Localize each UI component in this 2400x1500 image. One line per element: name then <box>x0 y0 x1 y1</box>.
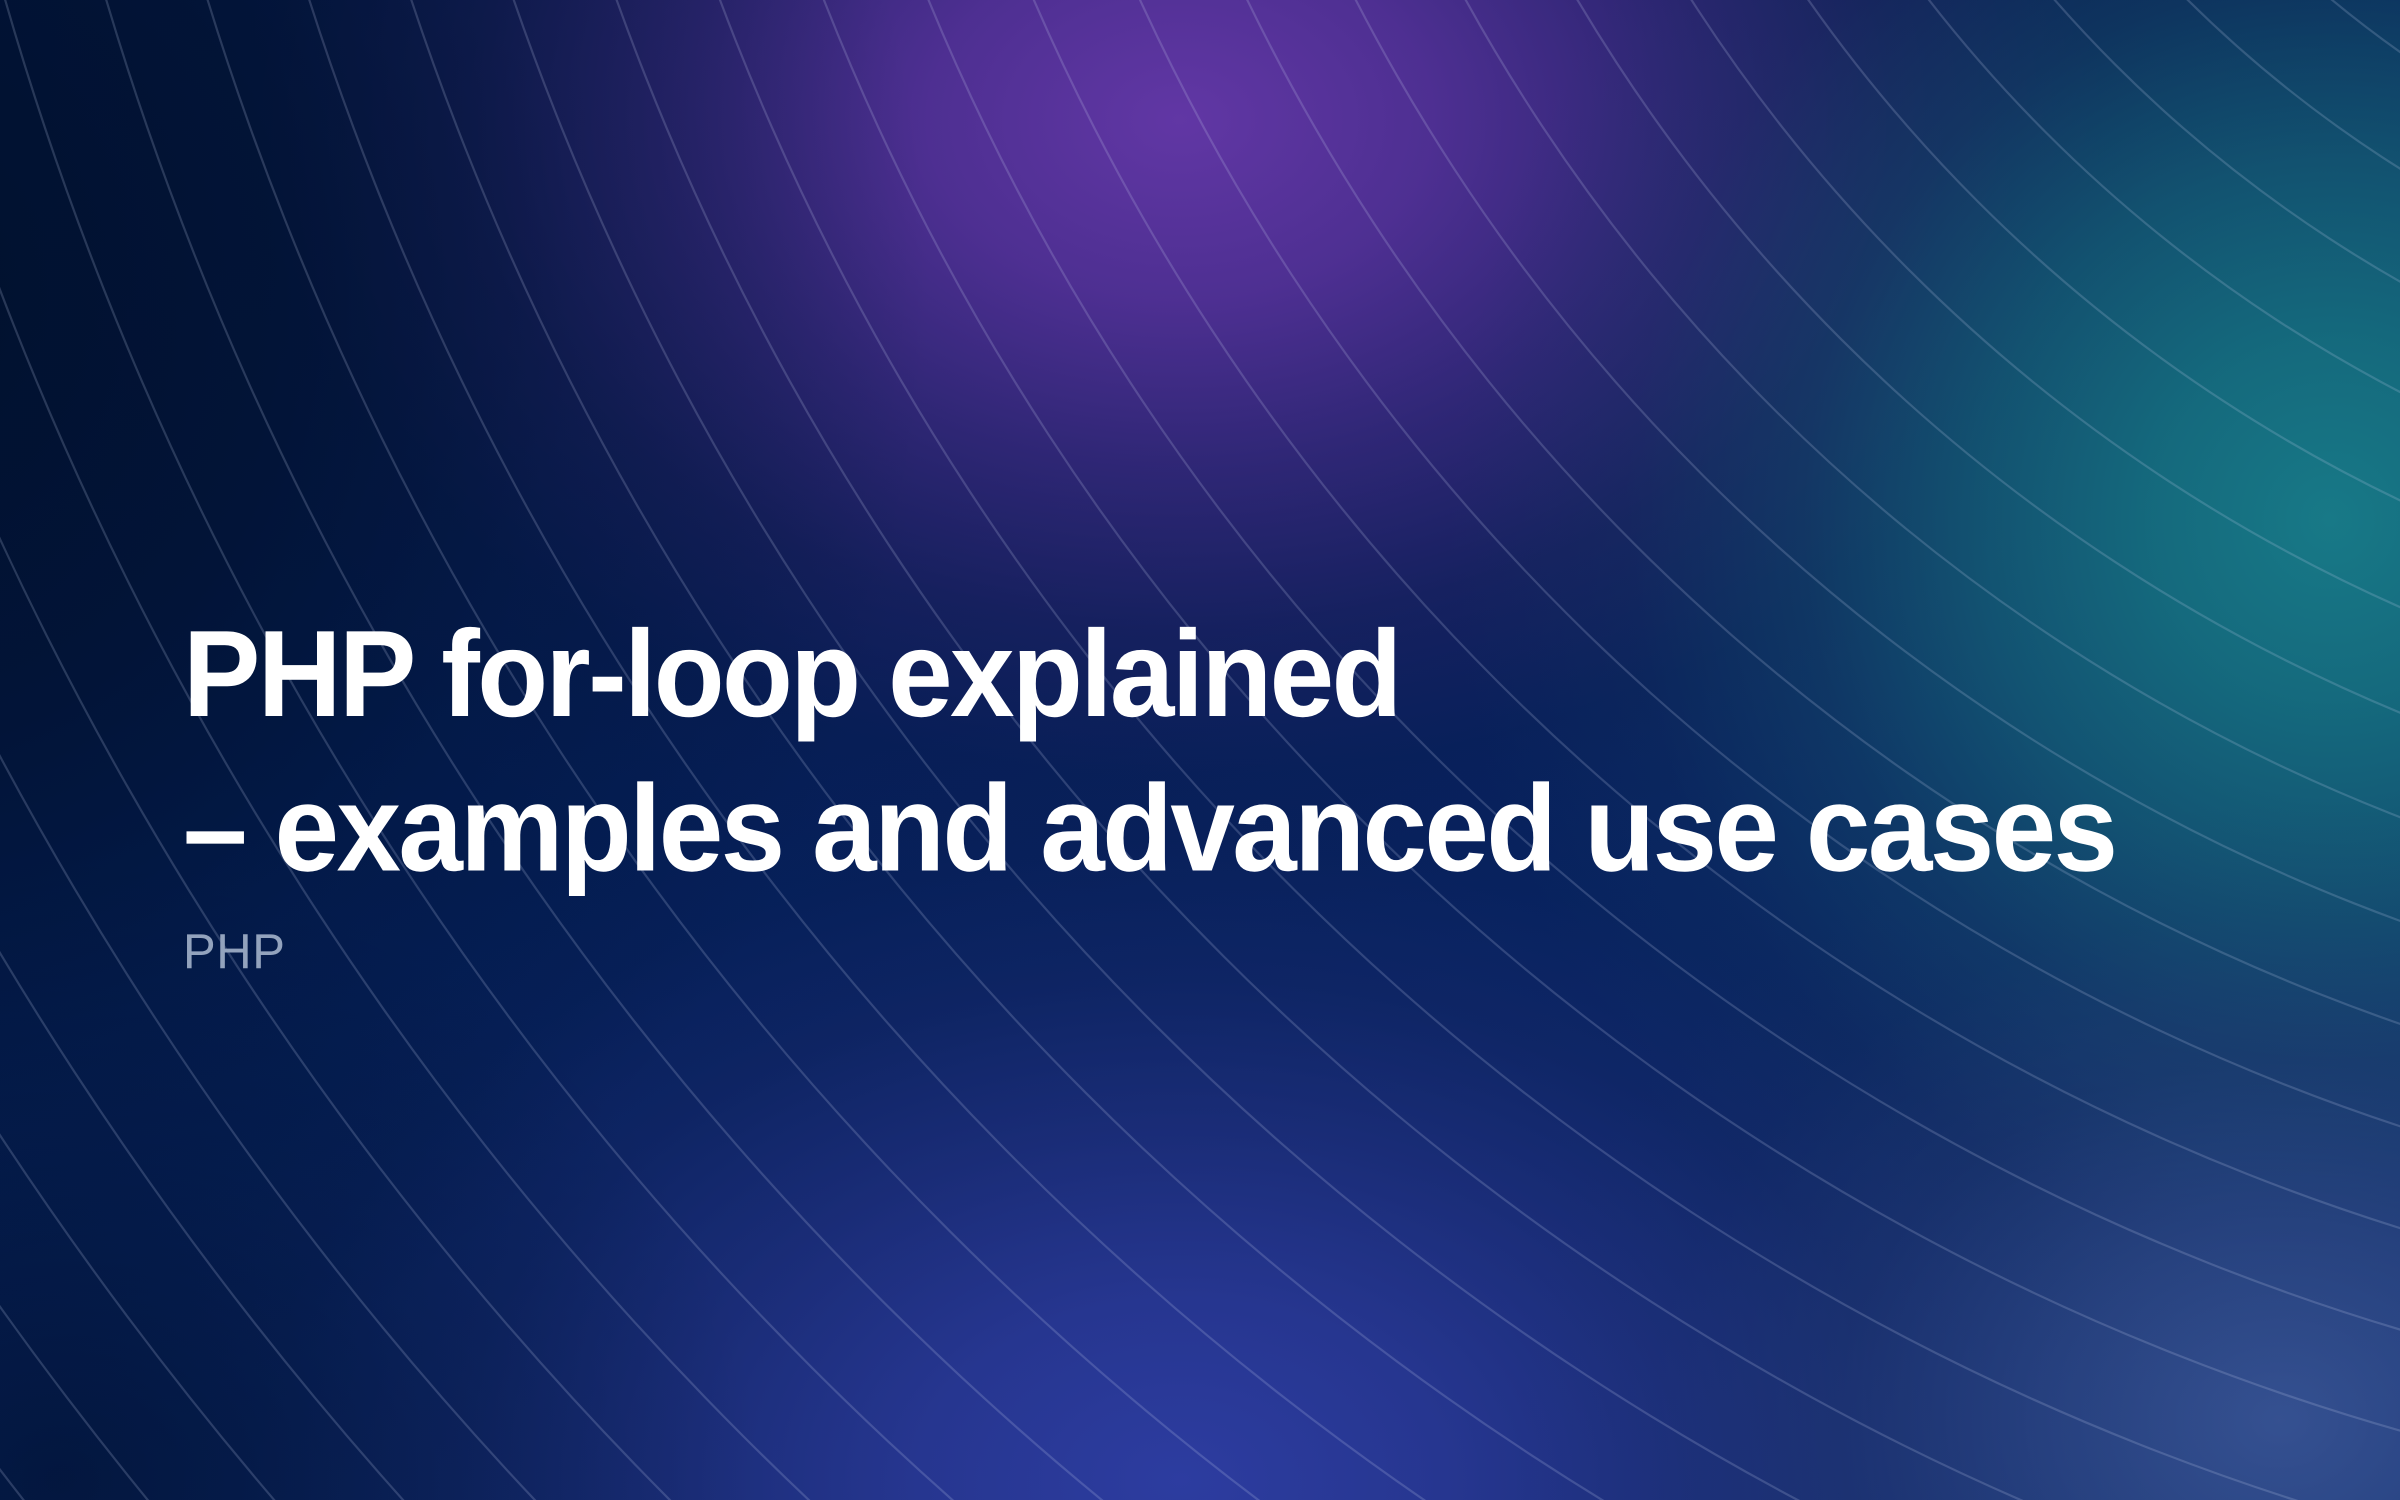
hero-card: PHP for-loop explained – examples and ad… <box>0 0 2400 1500</box>
hero-text-block: PHP for-loop explained – examples and ad… <box>183 596 2115 980</box>
page-title: PHP for-loop explained – examples and ad… <box>183 596 2115 906</box>
